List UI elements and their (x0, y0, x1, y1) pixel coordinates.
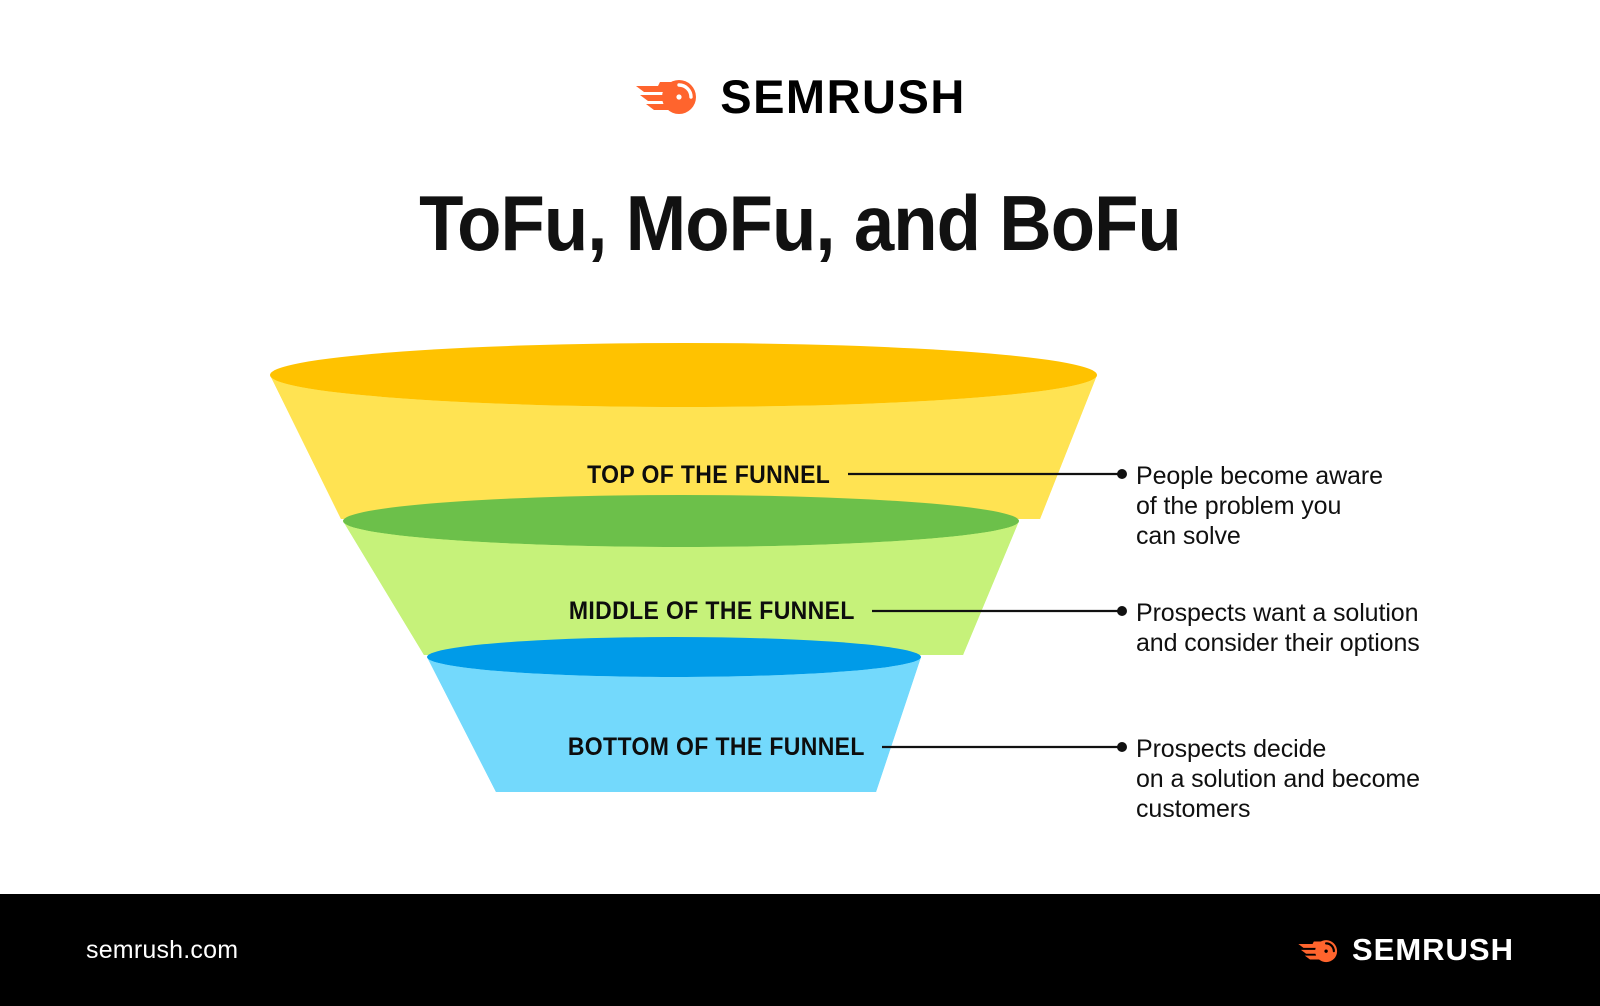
bofu-rim-ellipse (427, 637, 921, 677)
funnel-shapes (0, 0, 1600, 1006)
footer-url[interactable]: semrush.com (86, 936, 238, 965)
leader-dot-bofu (1117, 742, 1127, 752)
mofu-rim-ellipse (343, 495, 1019, 547)
semrush-comet-icon (1297, 935, 1341, 966)
stage-label-bofu: BOTTOM OF THE FUNNEL (568, 733, 865, 762)
footer-bar: semrush.com SEMRUSH (0, 894, 1600, 1006)
semrush-comet-icon (634, 72, 702, 120)
leader-lines (848, 469, 1127, 752)
bofu-body-inner (427, 657, 921, 792)
funnel-stage-tofu (270, 343, 1097, 519)
funnel-diagram: TOP OF THE FUNNEL MIDDLE OF THE FUNNEL B… (0, 0, 1600, 1006)
tofu-body-inner (270, 375, 1097, 519)
leader-dot-mofu (1117, 606, 1127, 616)
tofu-body (270, 375, 1097, 519)
stage-label-tofu: TOP OF THE FUNNEL (587, 461, 830, 490)
leader-dot-tofu (1117, 469, 1127, 479)
footer-brand-wordmark: SEMRUSH (1352, 932, 1514, 968)
stage-label-mofu: MIDDLE OF THE FUNNEL (569, 597, 855, 626)
mofu-body-inner (343, 521, 1019, 655)
funnel-stage-bofu (427, 637, 921, 792)
stage-description-bofu: Prospects decide on a solution and becom… (1136, 734, 1420, 824)
footer-brand-logo: SEMRUSH (1297, 932, 1514, 968)
mofu-body (343, 521, 1019, 655)
stage-description-tofu: People become aware of the problem you c… (1136, 461, 1383, 551)
bofu-body (427, 657, 921, 792)
tofu-rim-ellipse (270, 343, 1097, 407)
funnel-stage-mofu (343, 495, 1019, 655)
infographic-page: SEMRUSH ToFu, MoFu, and BoFu (0, 0, 1600, 1006)
stage-description-mofu: Prospects want a solution and consider t… (1136, 598, 1420, 658)
header-brand-logo: SEMRUSH (0, 72, 1600, 120)
brand-wordmark: SEMRUSH (720, 73, 966, 120)
page-title: ToFu, MoFu, and BoFu (56, 178, 1544, 269)
